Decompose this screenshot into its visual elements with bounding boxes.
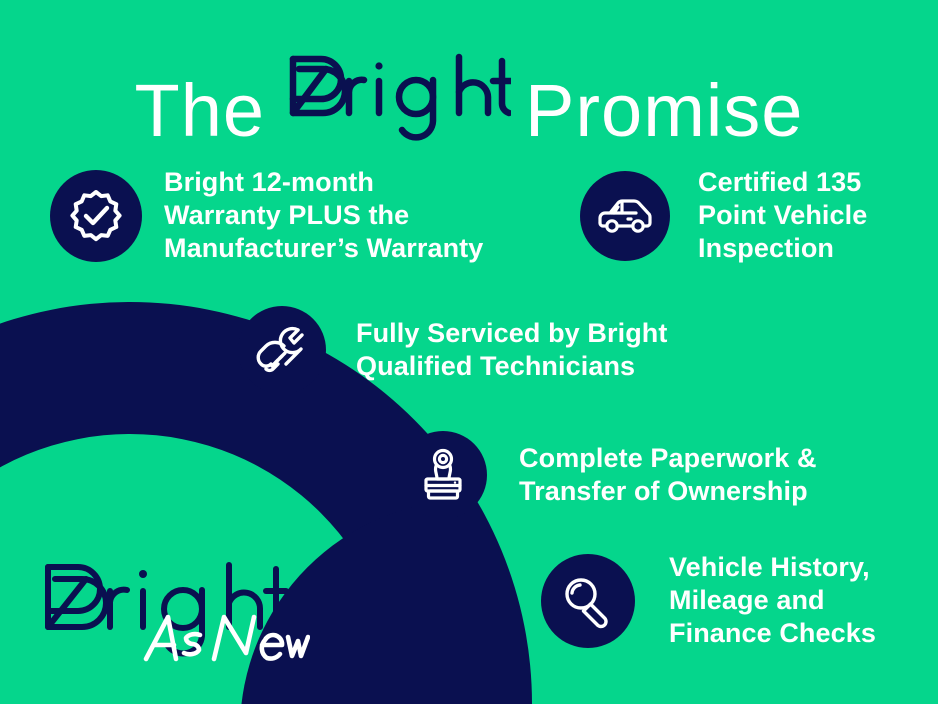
feature-item-warranty: Bright 12-month Warranty PLUS the Manufa…	[50, 166, 483, 266]
page-title: The	[0, 44, 938, 148]
headline-prefix: The	[135, 74, 266, 148]
feature-item-servicing: Fully Serviced by Bright Qualified Techn…	[238, 306, 667, 394]
feature-label-warranty: Bright 12-month Warranty PLUS the Manufa…	[164, 166, 483, 266]
bright-wordmark-logo	[279, 51, 511, 148]
brand-asnew-wordmark	[142, 611, 310, 671]
bright-promise-poster: The	[0, 0, 938, 704]
headline-suffix: Promise	[525, 74, 803, 148]
feature-label-paperwork: Complete Paperwork & Transfer of Ownersh…	[519, 442, 817, 508]
feature-label-checks: Vehicle History, Mileage and Finance Che…	[669, 551, 876, 651]
feature-item-paperwork: Complete Paperwork & Transfer of Ownersh…	[399, 431, 817, 519]
verified-badge-icon	[50, 170, 142, 262]
car-icon	[580, 171, 670, 261]
feature-label-servicing: Fully Serviced by Bright Qualified Techn…	[356, 317, 667, 383]
wrench-hand-icon	[238, 306, 326, 394]
feature-item-inspection: Certified 135 Point Vehicle Inspection	[580, 166, 867, 266]
magnifying-glass-icon	[541, 554, 635, 648]
feature-label-inspection: Certified 135 Point Vehicle Inspection	[698, 166, 867, 266]
rubber-stamp-icon	[399, 431, 487, 519]
brand-logo-bright-as-new	[38, 557, 298, 672]
feature-item-checks: Vehicle History, Mileage and Finance Che…	[541, 551, 876, 651]
